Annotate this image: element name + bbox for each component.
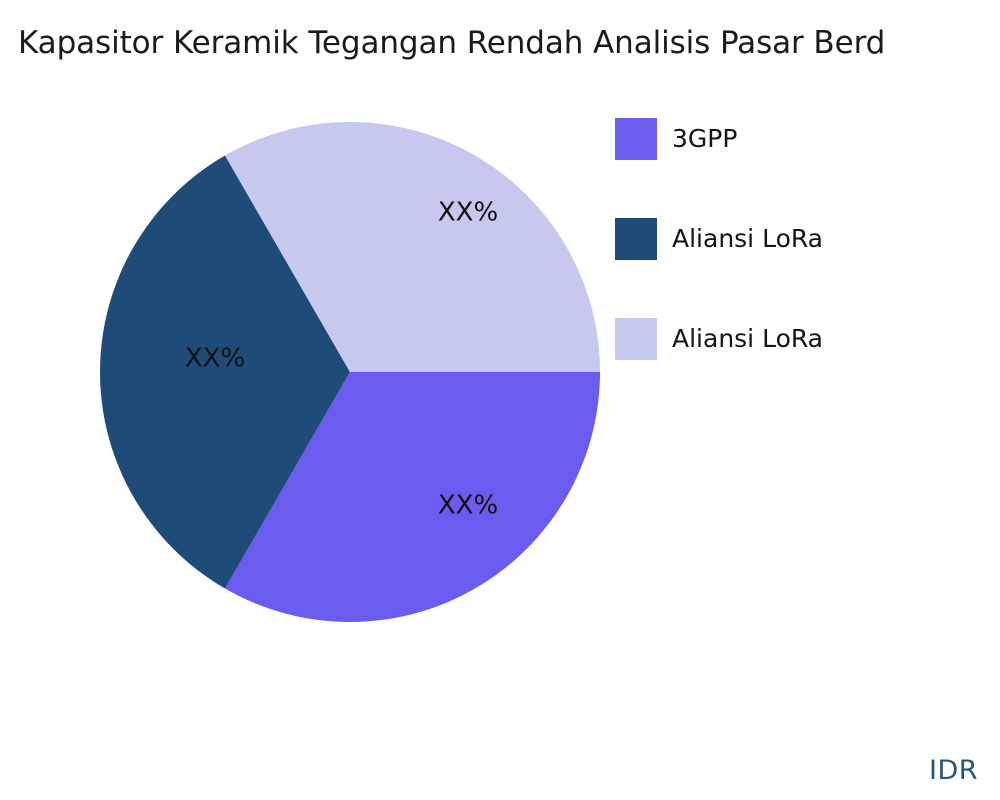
pie-slice-label-3gpp: XX% (438, 491, 498, 521)
chart-legend: 3GPP Aliansi LoRa Aliansi LoRa (615, 118, 985, 418)
chart-title: Kapasitor Keramik Tegangan Rendah Analis… (18, 22, 1000, 64)
legend-swatch-icon (615, 318, 657, 360)
legend-item-aliansi-lora-dark[interactable]: Aliansi LoRa (615, 218, 985, 318)
pie-slice-label-aliansi-lora-light: XX% (438, 198, 498, 228)
legend-item-label: Aliansi LoRa (672, 318, 823, 360)
pie-svg: XX% XX% XX% (100, 122, 600, 622)
legend-item-label: 3GPP (672, 118, 737, 160)
legend-item-aliansi-lora-light[interactable]: Aliansi LoRa (615, 318, 985, 418)
legend-swatch-icon (615, 118, 657, 160)
legend-item-label: Aliansi LoRa (672, 218, 823, 260)
pie-plot-area: XX% XX% XX% (100, 122, 600, 622)
legend-swatch-icon (615, 218, 657, 260)
currency-note: IDR (929, 755, 978, 786)
legend-item-3gpp[interactable]: 3GPP (615, 118, 985, 218)
pie-chart-figure: Kapasitor Keramik Tegangan Rendah Analis… (0, 0, 1000, 800)
pie-slice-label-aliansi-lora-dark: XX% (185, 344, 245, 374)
